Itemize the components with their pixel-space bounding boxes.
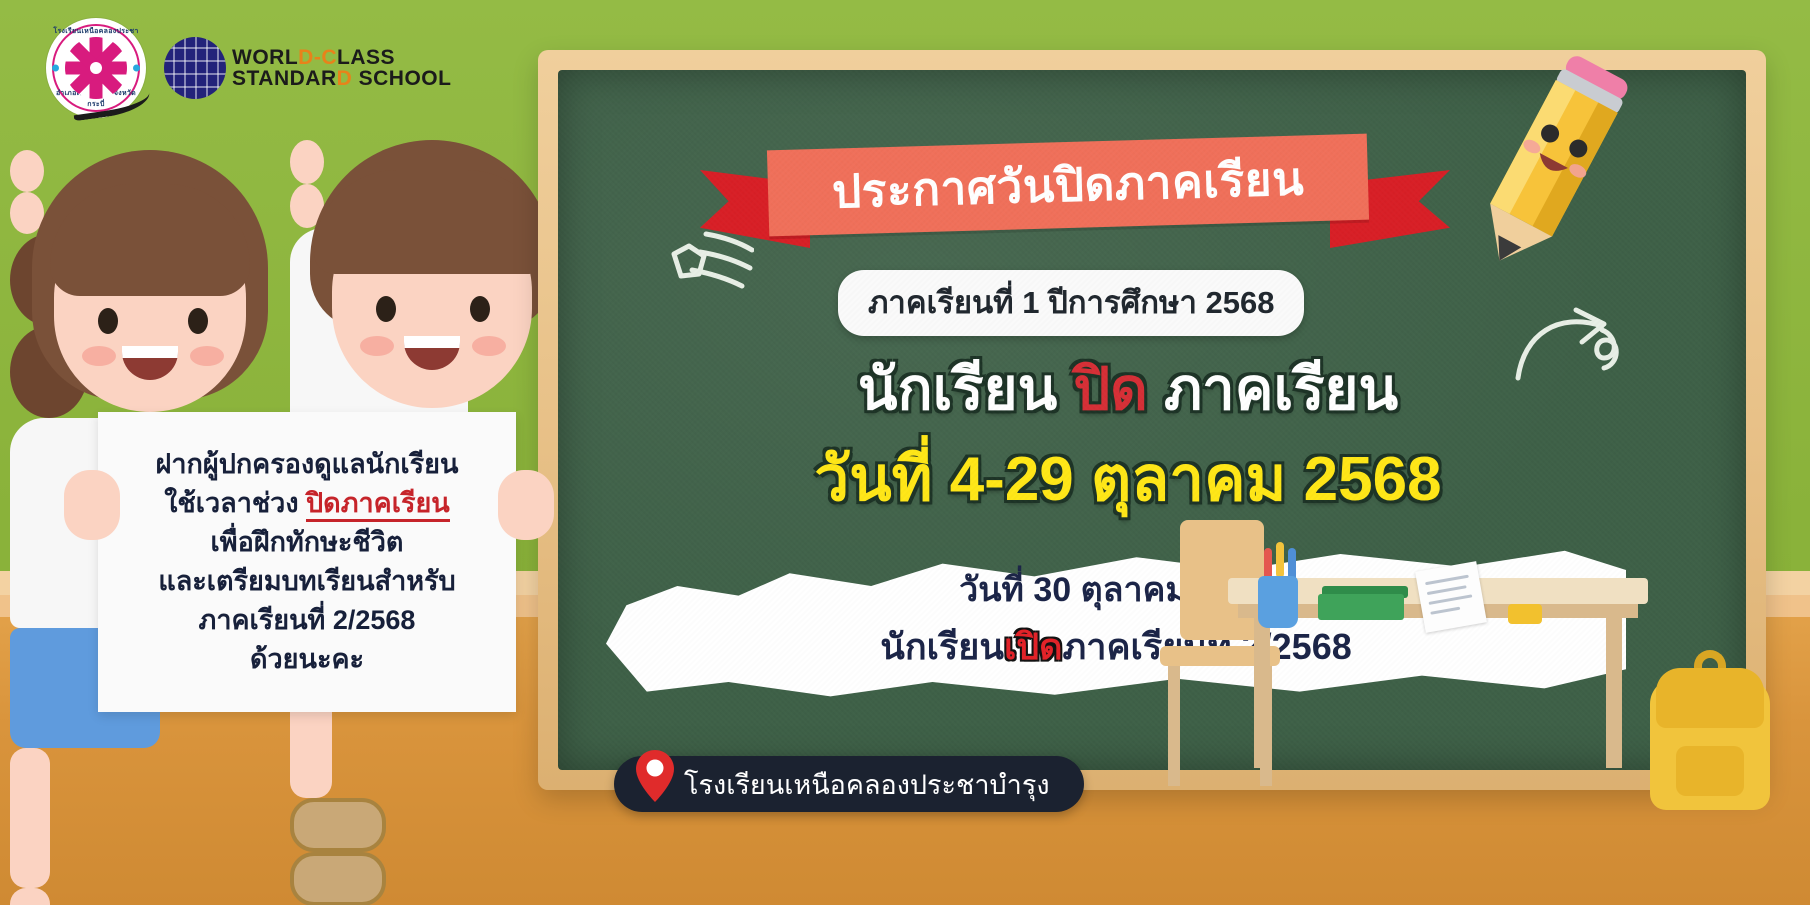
ribbon-body: ประกาศวันปิดภาคเรียน	[767, 134, 1369, 237]
globe-icon	[164, 37, 226, 99]
sign-line-2-pre: ใช้เวลาช่วง	[164, 488, 306, 518]
boy-hand	[498, 470, 554, 540]
seal-dot-left	[52, 65, 59, 72]
ribbon-title-text: ประกาศวันปิดภาคเรียน	[831, 142, 1305, 228]
sign-line-2: ใช้เวลาช่วง ปิดภาคเรียน	[164, 484, 449, 523]
headline-pre: นักเรียน	[858, 357, 1074, 422]
pencil-cup	[1258, 576, 1298, 628]
headline-red-word: ปิด	[1073, 357, 1147, 422]
sign-line-3: เพื่อฝึกทักษะชีวิต	[211, 523, 404, 562]
term-badge: ภาคเรียนที่ 1 ปีการศึกษา 2568	[838, 270, 1304, 336]
school-announcement-poster: โรงเรียนเหนือคลองประชาบำรุง อำเภอเหนือคล…	[0, 0, 1810, 905]
wcs-d: D	[298, 46, 314, 69]
sign-line-1: ฝากผู้ปกครองดูแลนักเรียน	[156, 445, 459, 484]
world-class-standard-logo: WORLD-CLASS STANDARD SCHOOL	[164, 37, 451, 99]
headline-post: ภาคเรียน	[1148, 357, 1398, 422]
wcs-standar: STANDAR	[232, 67, 337, 90]
headline: นักเรียน ปิด ภาคเรียน	[698, 342, 1558, 435]
wcs-lass: LASS	[337, 46, 395, 69]
closure-dateline: วันที่ 4-29 ตุลาคม 2568	[678, 430, 1578, 528]
header-logos: โรงเรียนเหนือคลองประชาบำรุง อำเภอเหนือคล…	[46, 18, 451, 118]
map-pin-icon	[636, 750, 674, 802]
wcs-school: SCHOOL	[359, 67, 452, 90]
pen-yellow	[1276, 542, 1284, 578]
pencil-character-icon	[1432, 34, 1672, 294]
sign-line-4: และเตรียมบทเรียนสำหรับ	[158, 562, 455, 601]
paper-sheet	[1415, 561, 1487, 633]
reopen-red-word: เปิด	[1004, 626, 1063, 667]
seal-dot-right	[133, 65, 140, 72]
girl-hand	[64, 470, 120, 540]
sign-line-6: ด้วยนะคะ	[250, 640, 364, 679]
backpack	[1650, 650, 1770, 810]
parent-message-sign: ฝากผู้ปกครองดูแลนักเรียน ใช้เวลาช่วง ปิด…	[98, 412, 516, 712]
book-front	[1318, 594, 1404, 620]
reopen-pre: นักเรียน	[880, 626, 1004, 667]
location-pill: โรงเรียนเหนือคลองประชาบำรุง	[614, 756, 1084, 812]
location-name-text: โรงเรียนเหนือคลองประชาบำรุง	[684, 763, 1050, 806]
wcs-worl: WORL	[232, 46, 298, 69]
wcs-d2: D	[337, 67, 353, 90]
term-badge-text: ภาคเรียนที่ 1 ปีการศึกษา 2568	[868, 285, 1274, 320]
ribbon-banner: ประกาศวันปิดภาคเรียน	[708, 128, 1408, 248]
eraser	[1508, 604, 1542, 624]
sign-line-2-highlight: ปิดภาคเรียน	[306, 488, 450, 522]
wcs-dash-c: -C	[314, 46, 337, 69]
sign-line-5: ภาคเรียนที่ 2/2568	[199, 601, 416, 640]
